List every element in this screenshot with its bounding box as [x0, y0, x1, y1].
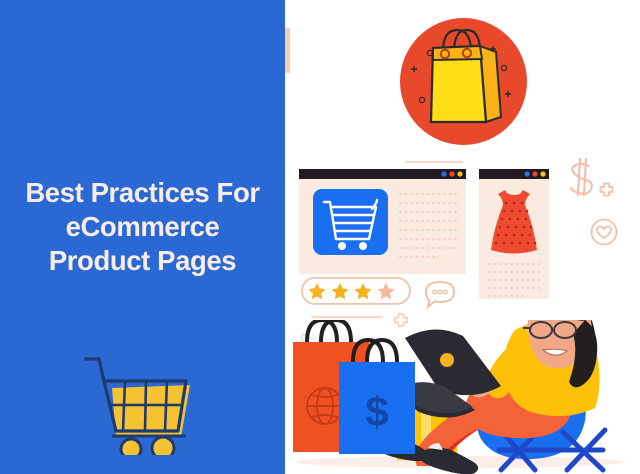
page-title: Best Practices For eCommerce Product Pag…	[0, 176, 285, 278]
bottom-scene: $	[285, 320, 640, 474]
dollar-sign-icon	[563, 157, 599, 197]
star-rating	[301, 277, 411, 305]
plus-icon	[598, 182, 615, 199]
comment-bubble-icon	[423, 280, 457, 314]
decorative-rule-top	[405, 161, 463, 163]
dot-yellow	[457, 171, 462, 176]
left-blue-panel: Best Practices For eCommerce Product Pag…	[0, 0, 285, 474]
heart-icon	[590, 218, 618, 246]
banner-image: Best Practices For eCommerce Product Pag…	[0, 0, 640, 474]
dot-blue	[441, 171, 446, 176]
headline-line-1: Best Practices For	[0, 176, 285, 210]
card-edge-decoration	[285, 28, 290, 73]
headline-line-3: Product Pages	[0, 244, 285, 278]
star-icon	[309, 283, 395, 299]
dress-product-card	[479, 169, 549, 299]
dot-red	[449, 171, 454, 176]
decorative-rule-bottom	[311, 316, 383, 318]
headline-line-2: eCommerce	[0, 210, 285, 244]
product-page-card	[299, 169, 466, 274]
shopping-bag-badge	[400, 18, 527, 145]
ecommerce-illustration: $	[285, 0, 640, 474]
svg-text:$: $	[365, 388, 388, 435]
shopping-cart-icon	[78, 345, 208, 455]
